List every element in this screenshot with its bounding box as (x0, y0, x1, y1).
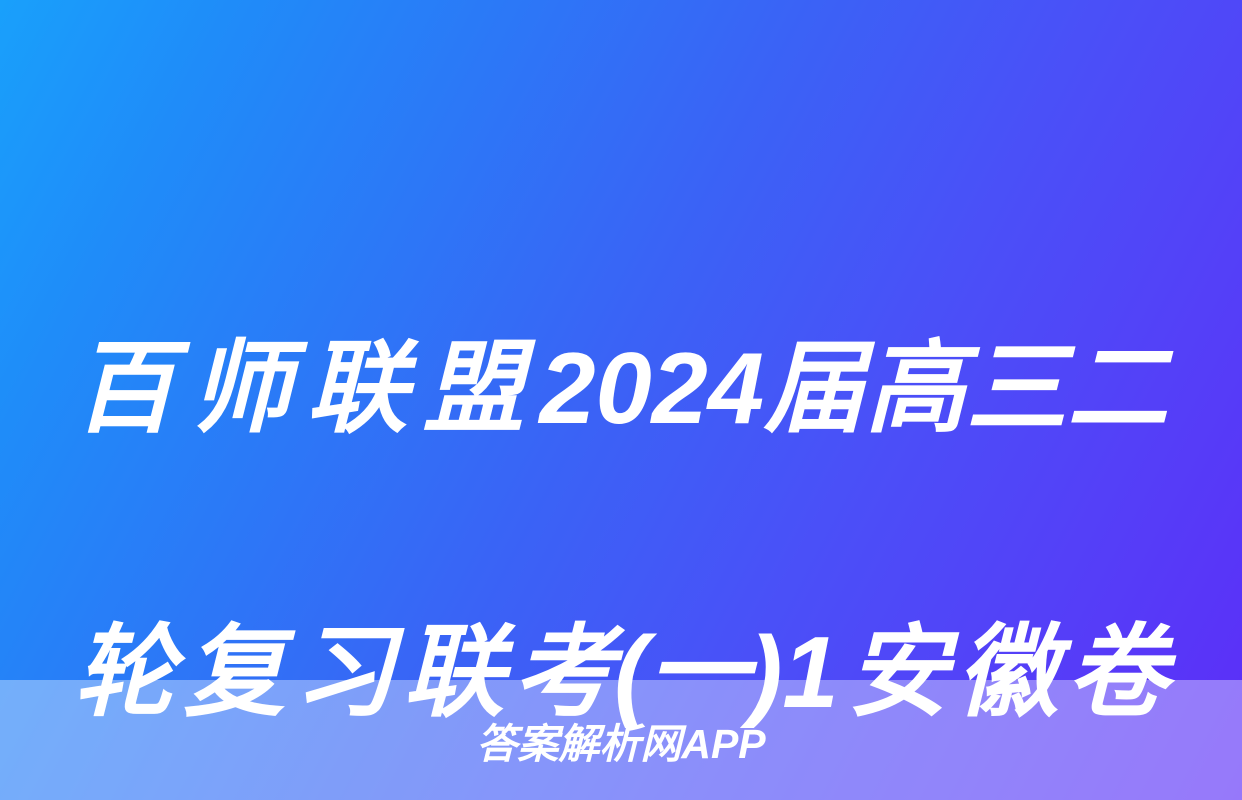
title-line-1-seg-1: 百 (74, 318, 175, 460)
title-line-1-seg-2: 师 (190, 318, 291, 460)
app-watermark: 答案解析网APP (0, 680, 1242, 800)
title-line-1-seg-5: 2024届高三二 (539, 318, 1168, 460)
title-line-1: 百 师 联 盟 2024届高三二 (74, 318, 1168, 460)
title-line-1-seg-3: 联 (307, 318, 408, 460)
footer-band: 答案解析网APP (0, 680, 1242, 800)
poster-canvas: 百 师 联 盟 2024届高三二 轮 复 习 联 考(一)1 安 徽 卷 地理答… (0, 0, 1242, 800)
title-line-1-seg-4: 盟 (423, 318, 524, 460)
